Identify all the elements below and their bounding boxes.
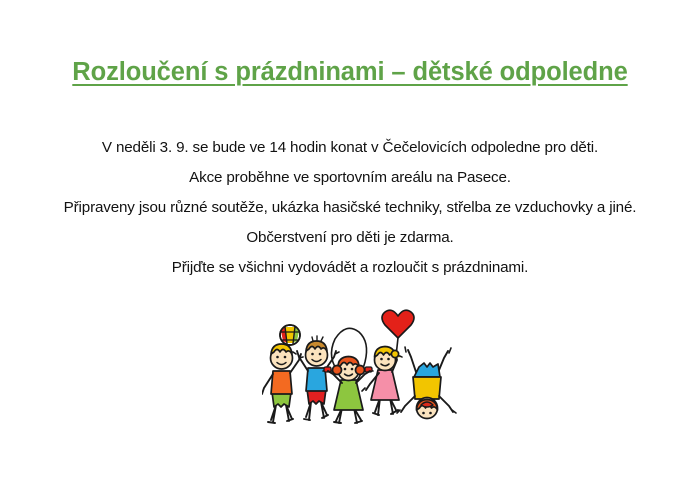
child-handstand [397, 347, 456, 419]
jumping-children-illustration [262, 300, 462, 430]
beach-ball-icon [280, 325, 300, 345]
poster-page: Rozloučení s prázdninami – dětské odpole… [0, 0, 700, 495]
child-pink-dress [362, 347, 402, 416]
body-line-3: Připraveny jsou různé soutěže, ukázka ha… [0, 193, 700, 223]
children-clipart-svg [262, 300, 462, 430]
body-line-4: Občerstvení pro děti je zdarma. [0, 223, 700, 253]
body-line-5: Přijďte se všichni vydovádět a rozloučit… [0, 253, 700, 283]
child-orange-shirt [262, 344, 303, 423]
body-line-2: Akce proběhne ve sportovním areálu na Pa… [0, 163, 700, 193]
body-line-1: V neděli 3. 9. se bude ve 14 hodin konat… [0, 133, 700, 163]
page-title: Rozloučení s prázdninami – dětské odpole… [72, 57, 627, 89]
title-block: Rozloučení s prázdninami – dětské odpole… [0, 57, 700, 89]
body-text-block: V neděli 3. 9. se bude ve 14 hodin konat… [0, 133, 700, 283]
